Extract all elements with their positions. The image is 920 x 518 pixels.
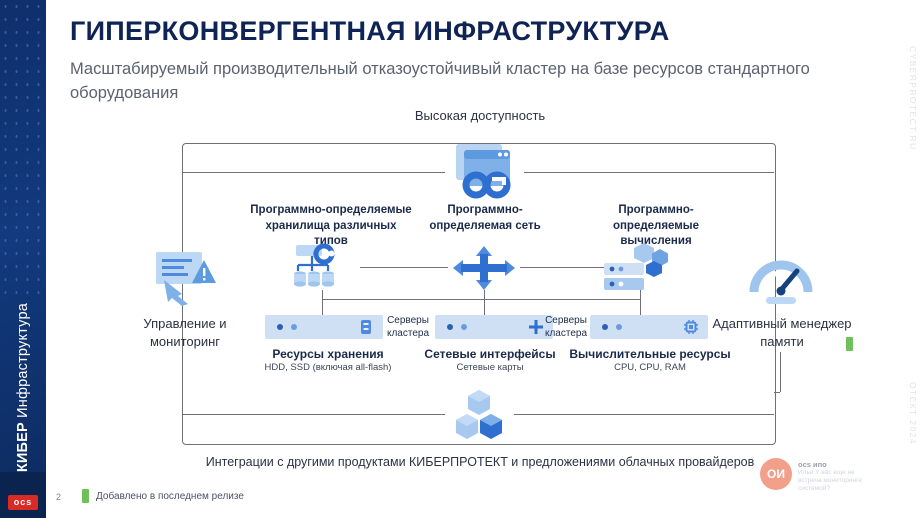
cpu-chip-icon — [683, 319, 699, 335]
legend-new-in-release: Добавлено в последнем релизе — [82, 489, 244, 503]
software-defined-compute-icon — [604, 243, 668, 291]
memory-connector-horizontal — [774, 392, 780, 393]
group-network-title: Сетевые интерфейсы — [410, 346, 570, 362]
icon-connector-2 — [520, 267, 604, 268]
watermark-year: ОТЕКТ 2024 — [908, 382, 918, 445]
badge-note: Ильи У вас еще не встреча мониторинге си… — [798, 469, 862, 493]
bus-drop-right — [640, 299, 641, 316]
server-bar-compute — [590, 315, 708, 339]
adaptive-memory-manager-label: Адаптивный менеджер памяти — [712, 315, 852, 351]
high-availability-label: Высокая доступность — [390, 108, 570, 123]
new-feature-chip — [846, 337, 853, 351]
server-bar-storage — [265, 315, 383, 339]
group-storage: Ресурсы хранения HDD, SSD (включая all-f… — [248, 346, 408, 375]
page-title: ГИПЕРКОНВЕРГЕНТНАЯ ИНФРАСТРУКТУРА — [70, 16, 670, 47]
bus-drop-mid — [484, 299, 485, 316]
legend-text: Добавлено в последнем релизе — [96, 491, 244, 502]
badge-name: ocs ипо — [798, 460, 862, 469]
ha-connector-left — [183, 172, 445, 173]
icon-connector-1 — [360, 267, 448, 268]
bottom-caption: Интеграции с другими продуктами КИБЕРПРО… — [150, 455, 810, 469]
brand-vertical-label: КИБЕР Инфраструктура — [0, 172, 46, 472]
user-badge-overlay[interactable]: ОИ ocs ипо Ильи У вас еще не встреча мон… — [760, 458, 862, 493]
ocs-logo: ocs — [8, 495, 38, 510]
integration-cubes-icon — [450, 390, 508, 440]
cluster-servers-label-2: Серверы кластера — [538, 314, 594, 340]
column-head-network: Программно-определяемая сеть — [418, 203, 552, 234]
brand-bold-text: КИБЕР — [15, 422, 31, 472]
high-availability-icon — [448, 140, 520, 202]
server-led-1 — [447, 324, 453, 330]
ocs-logo-text: ocs — [14, 498, 33, 507]
page-subtitle: Масштабируемый производительный отказоус… — [70, 58, 860, 106]
group-network-sub: Сетевые карты — [410, 362, 570, 375]
server-led-1 — [602, 324, 608, 330]
server-led-1 — [277, 324, 283, 330]
group-network: Сетевые интерфейсы Сетевые карты — [410, 346, 570, 375]
bus-drop-left — [322, 299, 323, 316]
adaptive-memory-manager-icon — [748, 250, 814, 310]
badge-text: ocs ипо Ильи У вас еще не встреча монито… — [798, 458, 862, 493]
left-sidebar-rail: КИБЕР Инфраструктура ocs — [0, 0, 46, 518]
server-led-2 — [461, 324, 467, 330]
server-led-2 — [616, 324, 622, 330]
watermark-site: CYBERPROTECT.RU — [908, 46, 918, 151]
server-led-2 — [291, 324, 297, 330]
green-chip-icon — [82, 489, 89, 503]
page-number: 2 — [56, 492, 61, 502]
avatar: ОИ — [760, 458, 792, 490]
memory-connector-vertical — [780, 352, 781, 392]
software-defined-network-icon — [452, 245, 516, 291]
ha-connector-right — [524, 172, 774, 173]
group-storage-title: Ресурсы хранения — [248, 346, 408, 362]
group-storage-sub: HDD, SSD (включая all-flash) — [248, 362, 408, 375]
cluster-servers-label-1: Серверы кластера — [380, 314, 436, 340]
server-bar-network — [435, 315, 553, 339]
management-monitoring-text: Управление и мониторинг — [120, 315, 250, 351]
management-monitoring-icon — [148, 250, 222, 306]
brand-rest-text: Инфраструктура — [15, 303, 31, 422]
cubes-connector-right — [514, 414, 774, 415]
management-monitoring-label: Управление и мониторинг — [120, 315, 250, 351]
software-defined-storage-icon — [294, 243, 354, 291]
cubes-connector-left — [183, 414, 445, 415]
storage-disk-icon — [358, 319, 374, 335]
adaptive-memory-manager-text: Адаптивный менеджер памяти — [712, 315, 852, 351]
bus-horizontal — [322, 299, 640, 300]
group-compute-sub: CPU, CPU, RAM — [560, 362, 740, 375]
